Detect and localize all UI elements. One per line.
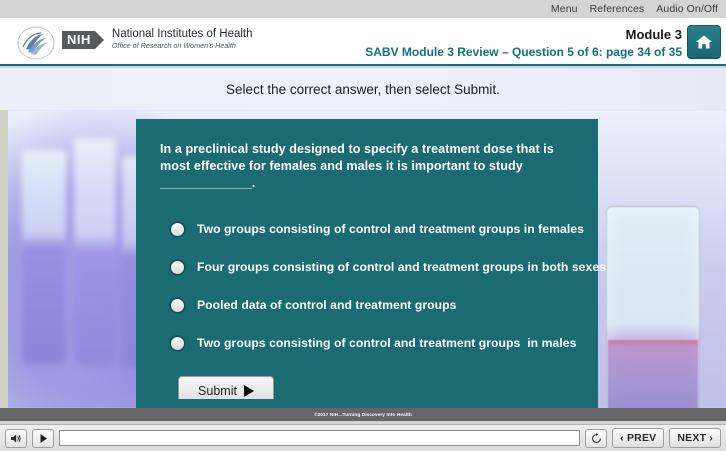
test-tube-1 bbox=[22, 150, 66, 365]
panel-bottom-band bbox=[136, 399, 598, 408]
menu-item-menu[interactable]: Menu bbox=[551, 3, 578, 15]
answer-option-label: Pooled data of control and treatment gro… bbox=[197, 298, 456, 312]
slide-stage: In a preclinical study designed to speci… bbox=[0, 110, 726, 408]
agency-line-1: National Institutes of Health bbox=[112, 28, 253, 41]
nih-logo-lockup: NIH National Institutes of Health Office… bbox=[62, 28, 253, 51]
prev-button[interactable]: ‹ PREV bbox=[612, 428, 664, 448]
speaker-icon bbox=[10, 433, 22, 444]
radio-button-icon[interactable] bbox=[170, 222, 185, 237]
answer-option-1[interactable]: Two groups consisting of control and tre… bbox=[160, 210, 574, 248]
page-header: NIH National Institutes of Health Office… bbox=[0, 18, 726, 66]
home-button[interactable] bbox=[687, 25, 721, 59]
module-title: Module 3 bbox=[626, 27, 682, 42]
next-button[interactable]: NEXT › bbox=[669, 428, 721, 448]
home-icon bbox=[695, 34, 713, 50]
playback-progress-track[interactable] bbox=[59, 430, 580, 446]
answer-option-3[interactable]: Pooled data of control and treatment gro… bbox=[160, 286, 574, 324]
answer-option-label: Two groups consisting of control and tre… bbox=[197, 222, 584, 236]
replay-icon bbox=[590, 432, 603, 445]
question-panel: In a preclinical study designed to speci… bbox=[136, 119, 598, 408]
play-icon bbox=[39, 433, 48, 444]
question-prompt: In a preclinical study designed to speci… bbox=[160, 141, 574, 192]
top-menu-bar: Menu References Audio On/Off bbox=[0, 0, 726, 18]
answer-option-4[interactable]: Two groups consisting of control and tre… bbox=[160, 324, 574, 362]
submit-button-label: Submit bbox=[198, 384, 237, 398]
module-subtitle: SABV Module 3 Review – Question 5 of 6: … bbox=[365, 45, 682, 59]
nih-badge: NIH bbox=[62, 31, 95, 49]
beaker-liquid bbox=[608, 340, 698, 408]
beaker-image bbox=[606, 206, 700, 408]
copyright-text: ©2017 NIH...Turning Discovery Into Healt… bbox=[314, 412, 412, 417]
radio-button-icon[interactable] bbox=[170, 260, 185, 275]
course-player-window: Menu References Audio On/Off NIH Nationa… bbox=[0, 0, 726, 451]
play-pause-button[interactable] bbox=[32, 429, 54, 448]
volume-button[interactable] bbox=[5, 429, 27, 448]
player-control-bar: ‹ PREV NEXT › bbox=[0, 424, 726, 451]
nih-agency-name: National Institutes of Health Office of … bbox=[112, 28, 253, 51]
radio-button-icon[interactable] bbox=[170, 298, 185, 313]
menu-item-audio-toggle[interactable]: Audio On/Off bbox=[656, 3, 718, 15]
play-triangle-icon bbox=[244, 385, 254, 397]
menu-item-references[interactable]: References bbox=[590, 3, 645, 15]
copyright-bar: ©2017 NIH...Turning Discovery Into Healt… bbox=[0, 408, 726, 421]
test-tube-2 bbox=[74, 138, 116, 366]
stage-left-edge bbox=[0, 110, 8, 408]
radio-button-icon[interactable] bbox=[170, 336, 185, 351]
answer-options-list: Two groups consisting of control and tre… bbox=[160, 210, 574, 362]
agency-line-2: Office of Research on Women's Health bbox=[112, 41, 253, 51]
instruction-banner: Select the correct answer, then select S… bbox=[0, 68, 726, 110]
answer-option-2[interactable]: Four groups consisting of control and tr… bbox=[160, 248, 574, 286]
replay-button[interactable] bbox=[585, 429, 607, 448]
instruction-text: Select the correct answer, then select S… bbox=[226, 82, 500, 97]
hhs-seal-logo bbox=[10, 24, 62, 62]
answer-option-label: Two groups consisting of control and tre… bbox=[197, 336, 576, 350]
answer-option-label: Four groups consisting of control and tr… bbox=[197, 260, 606, 274]
